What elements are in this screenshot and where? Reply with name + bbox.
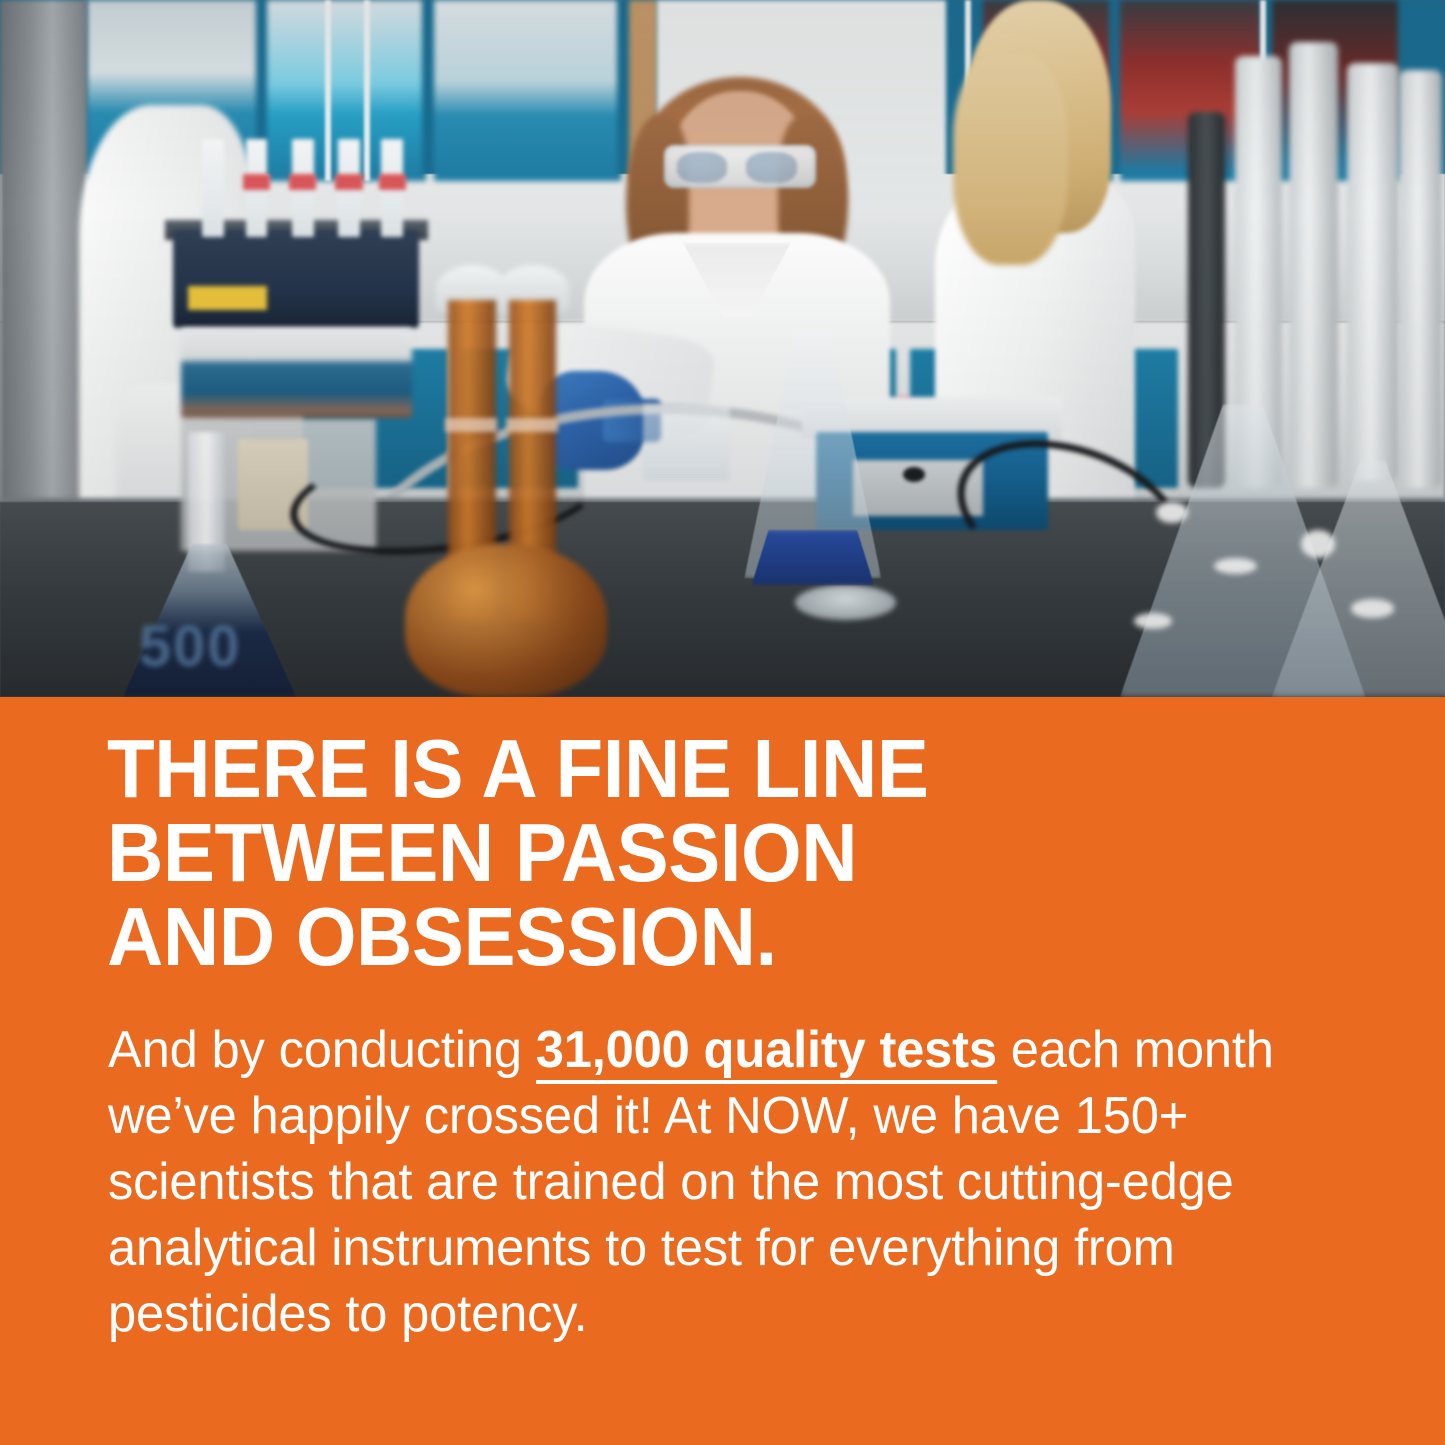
cabinet-mullion xyxy=(325,0,331,181)
orange-text-panel: THERE IS A FINE LINE BETWEEN PASSION AND… xyxy=(0,697,1445,1445)
volumetric-ring xyxy=(506,418,558,432)
goggle-lens xyxy=(746,152,797,183)
photo-scene: 500 xyxy=(0,0,1445,697)
amber-flask-bulb xyxy=(405,544,607,697)
test-tube-cap xyxy=(289,174,316,189)
flask-volume-label: 500 xyxy=(139,613,255,676)
lab-shaker xyxy=(173,230,419,328)
shaker-base xyxy=(181,328,412,419)
glass-highlight xyxy=(1351,599,1394,617)
laboratory-photograph: 500 xyxy=(0,0,1445,697)
door-frame xyxy=(0,0,87,502)
blue-liquid xyxy=(751,530,874,586)
body-paragraph: And by conducting 31,000 quality tests e… xyxy=(108,1017,1298,1347)
instrument-column xyxy=(1399,70,1442,488)
instrument-knob xyxy=(903,467,925,482)
glass-highlight xyxy=(1134,613,1172,628)
page-title: THERE IS A FINE LINE BETWEEN PASSION AND… xyxy=(107,727,1263,979)
goggle-lens xyxy=(677,152,728,183)
volumetric-ring xyxy=(445,418,497,432)
shaker-label xyxy=(188,286,267,310)
test-tube-cap xyxy=(243,174,270,189)
blonde-hair xyxy=(953,53,1068,265)
glass-highlight xyxy=(1301,530,1336,558)
body-text-part-1: And by conducting xyxy=(108,1021,536,1079)
beaker xyxy=(643,404,730,481)
test-tube xyxy=(202,139,224,237)
quality-tests-emphasis: 31,000 quality tests xyxy=(536,1021,997,1084)
cabinet-mullion xyxy=(364,0,370,181)
test-tube-cap xyxy=(335,174,362,189)
glass-highlight xyxy=(1156,502,1188,523)
test-tube-cap xyxy=(379,174,406,189)
instrument-column xyxy=(1289,42,1338,488)
instrument-column xyxy=(1347,63,1399,481)
poster-root: 500 THERE IS A FINE LINE BETWEEN PASSION… xyxy=(0,0,1445,1445)
